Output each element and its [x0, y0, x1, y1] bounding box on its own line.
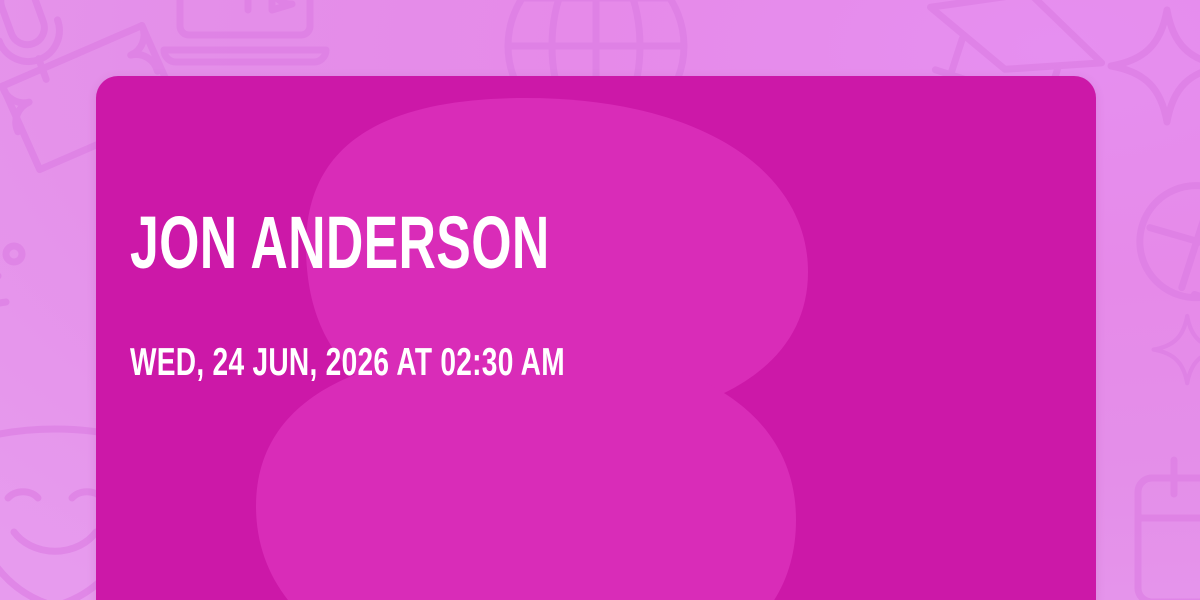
microphone-icon [0, 0, 75, 90]
confetti-icon [0, 246, 22, 358]
card-decorative-blob [96, 76, 1096, 600]
balloon-icon [1120, 166, 1200, 363]
event-banner: Jon Anderson Wed, 24 Jun, 2026 at 02:30 … [0, 0, 1200, 600]
sparkle-icon [1111, 10, 1200, 122]
sparkle-icon [1154, 316, 1200, 383]
event-card[interactable]: Jon Anderson Wed, 24 Jun, 2026 at 02:30 … [96, 76, 1096, 600]
calendar-icon [1138, 460, 1200, 600]
laptop-icon [164, 0, 326, 62]
